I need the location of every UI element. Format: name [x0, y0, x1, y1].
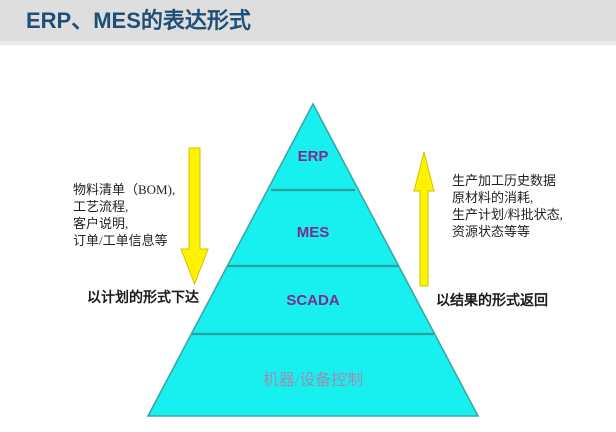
pyramid-label-mes: MES	[297, 224, 330, 241]
left-flow-detail-line: 订单/工单信息等	[73, 232, 175, 249]
pyramid-label-erp: ERP	[298, 148, 329, 165]
up-arrow-icon	[414, 152, 434, 286]
right-flow-details: 生产加工历史数据 原材料的消耗, 生产计划/料批状态, 资源状态等等	[452, 172, 563, 240]
page-title: ERP、MES的表达形式	[26, 6, 251, 36]
right-flow-detail-line: 资源状态等等	[452, 223, 563, 240]
slide-canvas: ERP、MES的表达形式 ERP MES SCADA 机器/设备控制 物料清单（…	[0, 0, 616, 432]
header-underline-divider	[0, 41, 616, 45]
right-flow-detail-line: 生产加工历史数据	[452, 172, 563, 189]
left-flow-detail-line: 物料清单（BOM),	[73, 181, 175, 198]
left-flow-detail-line: 客户说明,	[73, 215, 175, 232]
left-flow-caption: 以计划的形式下达	[87, 287, 199, 307]
left-flow-detail-line: 工艺流程,	[73, 198, 175, 215]
right-flow-caption: 以结果的形式返回	[436, 290, 548, 310]
right-flow-detail-line: 生产计划/料批状态,	[452, 206, 563, 223]
pyramid-label-machine-control: 机器/设备控制	[263, 366, 363, 390]
right-flow-detail-line: 原材料的消耗,	[452, 189, 563, 206]
pyramid-label-scada: SCADA	[286, 292, 339, 309]
down-arrow-icon	[181, 148, 208, 284]
left-flow-details: 物料清单（BOM), 工艺流程, 客户说明, 订单/工单信息等	[73, 181, 175, 249]
